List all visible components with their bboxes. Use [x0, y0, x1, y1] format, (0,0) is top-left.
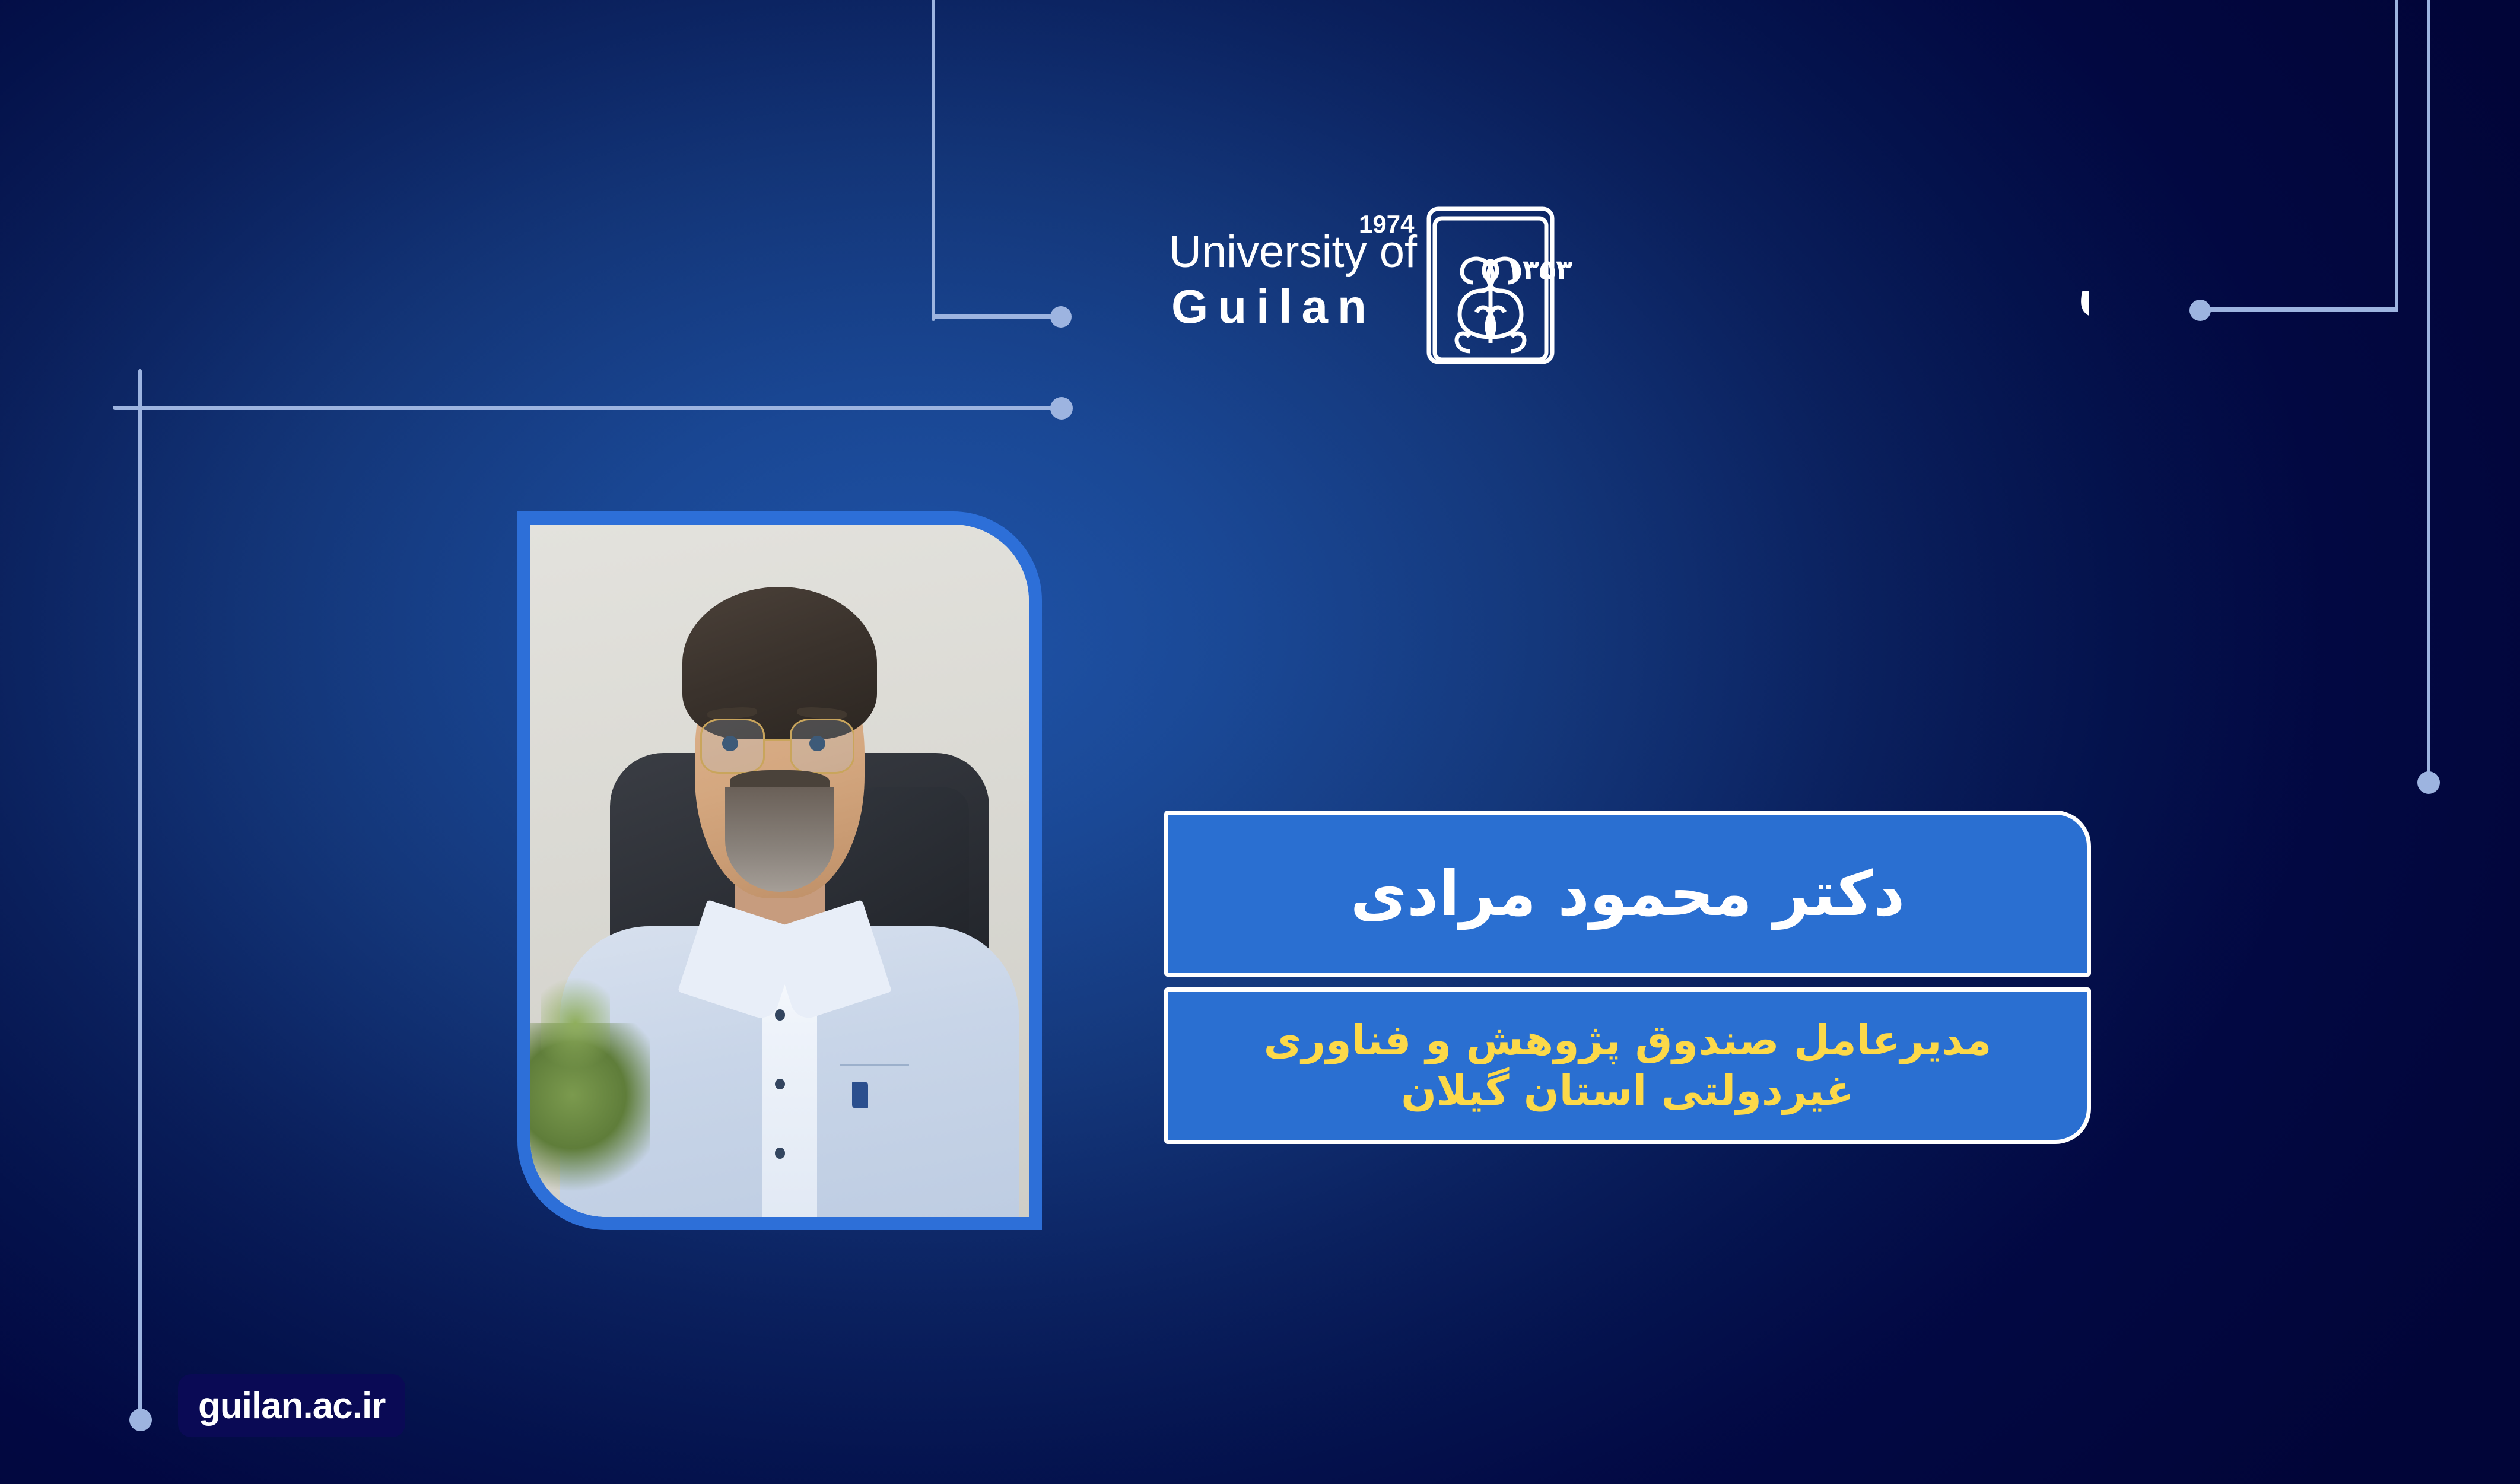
- logo-year-gregorian: 1974: [1359, 210, 1415, 238]
- right-corner-dot: [2189, 300, 2211, 321]
- left-vertical-line: [138, 369, 142, 1422]
- poster-canvas: University of Guilan 1974 ۱۳۵۳: [0, 0, 2520, 1484]
- person-name-text: دکتر محمود مرادی: [1350, 860, 1905, 927]
- person-name-badge: دکتر محمود مرادی: [1164, 811, 2091, 977]
- far-right-end-dot: [2417, 771, 2440, 794]
- person-role-line1: مدیرعامل صندوق پژوهش و فناوری: [1264, 1016, 1992, 1064]
- logo-name-fa: دانشگاه گیلان: [2077, 244, 2089, 324]
- top-corner-horizontal-line: [932, 314, 1065, 319]
- bottom-left-dot: [129, 1409, 152, 1431]
- right-corner-vertical-line: [2395, 0, 2398, 312]
- portrait-frame: [517, 511, 1042, 1230]
- person-role-line2: غیردولتی استان گیلان: [1401, 1066, 1854, 1115]
- portrait-photo: [530, 525, 1029, 1217]
- left-line-end-dot: [1050, 397, 1073, 420]
- website-url-pill[interactable]: guilan.ac.ir: [178, 1374, 405, 1437]
- emblem-icon: [1429, 209, 1552, 362]
- left-horizontal-line: [113, 406, 1062, 410]
- top-corner-vertical-line: [932, 0, 935, 321]
- website-url-text: guilan.ac.ir: [198, 1385, 385, 1427]
- far-right-vertical-line: [2427, 0, 2430, 784]
- person-role-badge: مدیرعامل صندوق پژوهش و فناوری غیردولتی ا…: [1164, 987, 2091, 1144]
- right-corner-horizontal-line: [2207, 307, 2398, 312]
- top-corner-dot: [1050, 306, 1072, 328]
- university-logo: University of Guilan 1974 ۱۳۵۳: [1163, 196, 2100, 374]
- logo-en-line2: Guilan: [1171, 280, 1376, 333]
